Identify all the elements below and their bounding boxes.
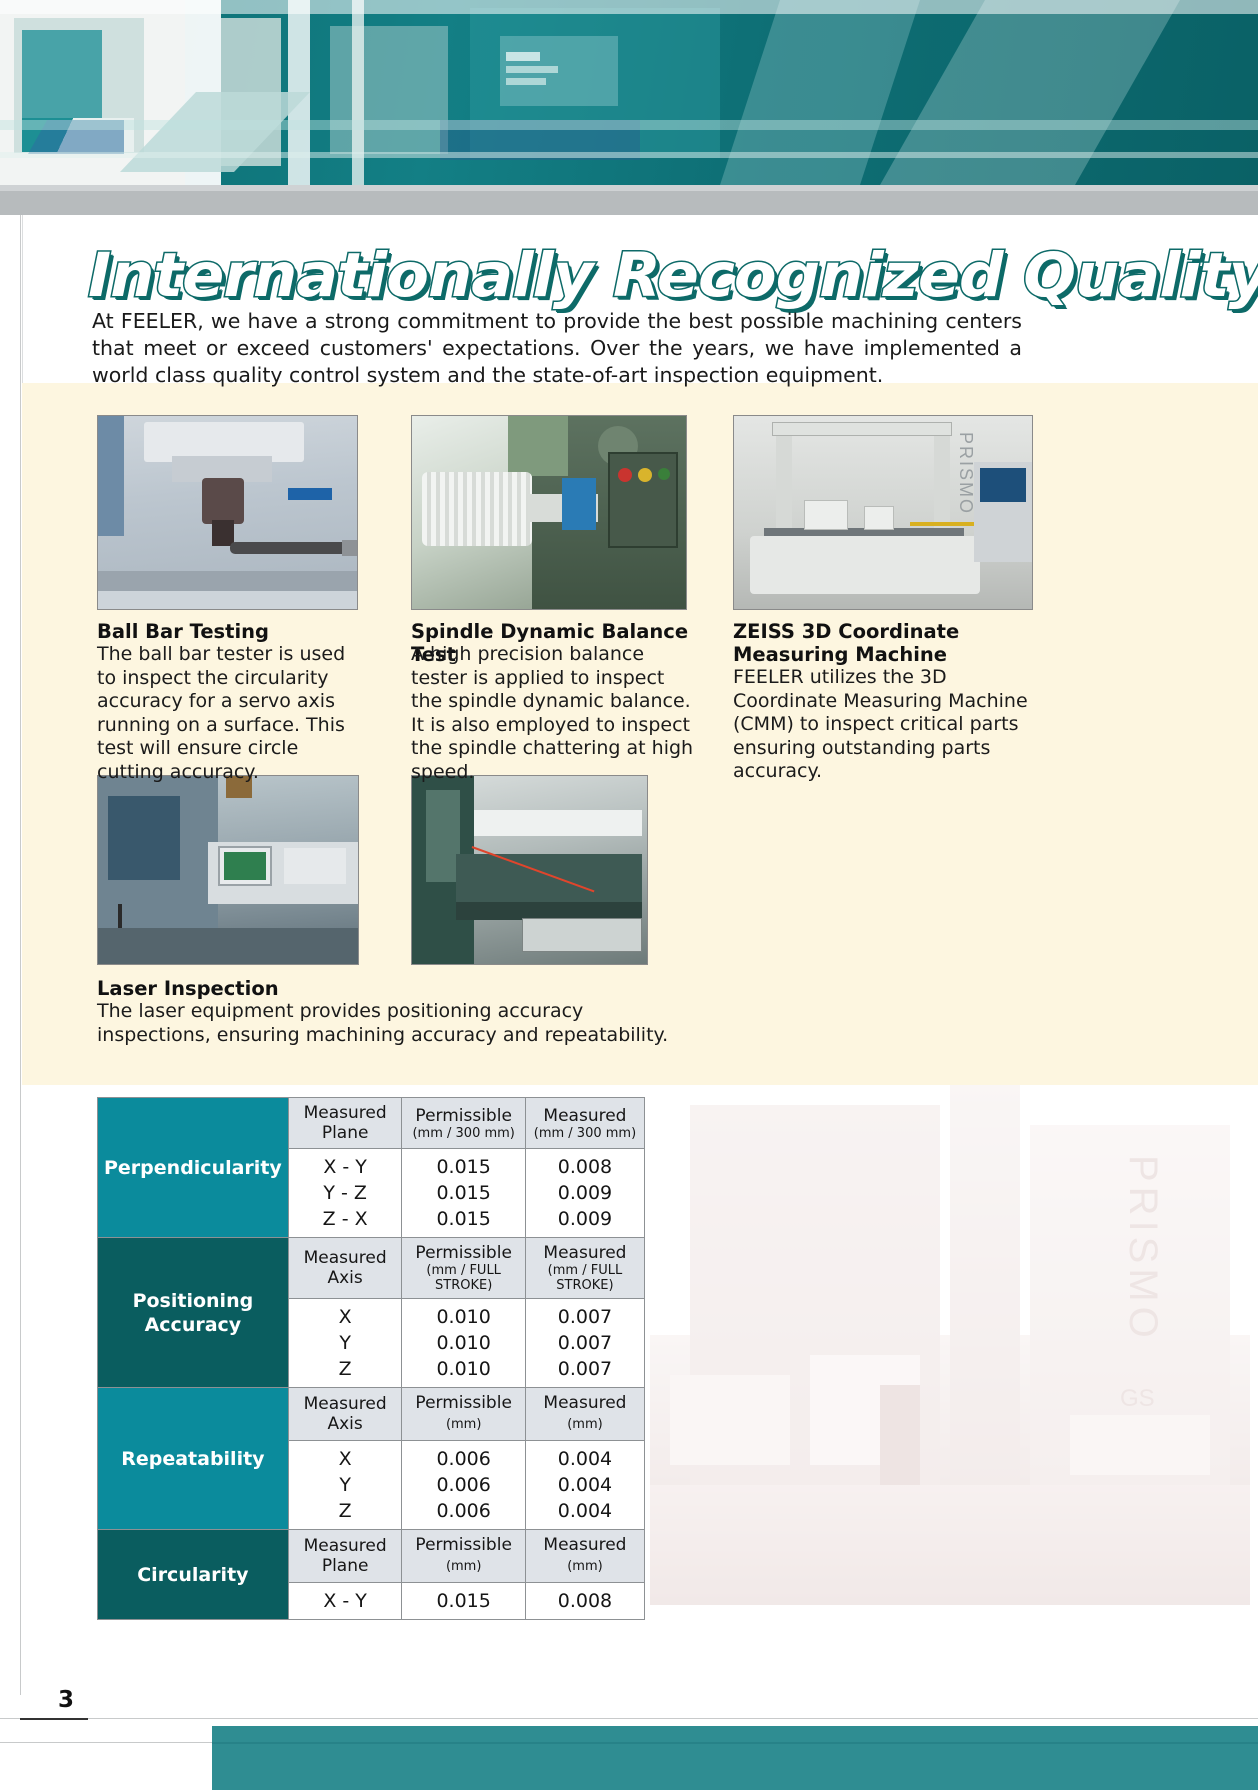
zeiss-cmm-photo: PRISMO [733, 415, 1033, 610]
table-row: Circularity Measured Plane Permissible (… [98, 1530, 645, 1583]
permissible-unit-1: (mm / FULL STROKE) [406, 1263, 520, 1293]
cell-value: 0.009 [530, 1180, 640, 1206]
permissible-label-1: Permissible [415, 1243, 512, 1263]
laser-inspection-photo [97, 775, 359, 965]
spec-measured-values-1: 0.007 0.007 0.007 [525, 1299, 644, 1388]
spec-permissible-values-3: 0.015 [402, 1583, 525, 1620]
cell-value: Y - Z [293, 1180, 398, 1206]
feature-body-2: FEELER utilizes the 3D Coordinate Measur… [733, 666, 1033, 784]
spec-category-1: Positioning Accuracy [98, 1238, 289, 1388]
spec-measured-values-2: 0.004 0.004 0.004 [525, 1441, 644, 1530]
spec-permissible-values-0: 0.015 0.015 0.015 [402, 1149, 525, 1238]
cell-value: 0.004 [530, 1472, 640, 1498]
feature-body-1: A high precision balance tester is appli… [411, 643, 699, 784]
cell-value: Y [293, 1472, 398, 1498]
banner-highlight-1 [0, 120, 1258, 130]
cmm-brand-label: PRISMO [955, 432, 976, 515]
feature-title-0: Ball Bar Testing [97, 620, 372, 643]
cell-value: X [293, 1304, 398, 1330]
feature-title-3: Laser Inspection [97, 977, 497, 1000]
cell-value: 0.004 [530, 1446, 640, 1472]
spec-axis-values-3: X - Y [288, 1583, 402, 1620]
spec-measured-header-1: Measured (mm / FULL STROKE) [525, 1238, 644, 1299]
banner-column-4 [330, 26, 448, 154]
measured-label-2: Measured [543, 1393, 626, 1413]
spec-measured-header-0: Measured (mm / 300 mm) [525, 1098, 644, 1149]
ball-bar-testing-photo [97, 415, 358, 610]
cell-value: 0.006 [406, 1472, 520, 1498]
cell-value: 0.006 [406, 1498, 520, 1524]
spec-permissible-header-0: Permissible (mm / 300 mm) [402, 1098, 525, 1149]
cell-value: 0.015 [406, 1588, 520, 1614]
spec-table-wrap: Perpendicularity Measured Plane Permissi… [97, 1097, 645, 1620]
measured-unit-3: (mm) [567, 1559, 602, 1574]
cell-value: 0.007 [530, 1304, 640, 1330]
permissible-label-2: Permissible [415, 1393, 512, 1413]
spec-permissible-header-3: Permissible (mm) [402, 1530, 525, 1583]
page-title: Internationally Recognized Quality [88, 240, 1169, 311]
cell-value: 0.010 [406, 1304, 520, 1330]
permissible-unit-3: (mm) [446, 1559, 481, 1574]
accuracy-spec-table: Perpendicularity Measured Plane Permissi… [97, 1097, 645, 1620]
cell-value: Z - X [293, 1206, 398, 1232]
banner-window-line-1 [506, 52, 540, 61]
feature-body-0: The ball bar tester is used to inspect t… [97, 643, 367, 784]
permissible-label-3: Permissible [415, 1535, 512, 1555]
banner-top-band [0, 0, 1258, 14]
table-row: Perpendicularity Measured Plane Permissi… [98, 1098, 645, 1149]
banner-window-line-2 [506, 66, 558, 73]
cell-value: 0.010 [406, 1330, 520, 1356]
cell-value: 0.007 [530, 1330, 640, 1356]
banner-machine-inner [22, 30, 102, 118]
cell-value: Z [293, 1356, 398, 1382]
watermark-mark-label: GS [1120, 1385, 1155, 1413]
spec-axis-values-1: X Y Z [288, 1299, 402, 1388]
footer-bar-line [212, 1742, 1258, 1744]
spec-measured-values-0: 0.008 0.009 0.009 [525, 1149, 644, 1238]
spec-measured-values-3: 0.008 [525, 1583, 644, 1620]
permissible-unit-2: (mm) [446, 1417, 481, 1432]
background-cmm-watermark: PRISMO GS [650, 1085, 1258, 1675]
footer-bar [212, 1726, 1258, 1790]
cell-value: 0.015 [406, 1154, 520, 1180]
header-banner-graphic [0, 0, 1258, 185]
cell-value: X [293, 1446, 398, 1472]
page-number-rule [20, 1718, 88, 1720]
cell-value: 0.008 [530, 1154, 640, 1180]
cell-value: 0.007 [530, 1356, 640, 1382]
measured-label-3: Measured [543, 1535, 626, 1555]
measured-label-1: Measured [543, 1243, 626, 1263]
spec-axis-header-2: Measured Axis [288, 1388, 402, 1441]
spec-measured-header-2: Measured (mm) [525, 1388, 644, 1441]
table-row: Repeatability Measured Axis Permissible … [98, 1388, 645, 1441]
left-margin-rule [20, 215, 21, 1695]
cell-value: X - Y [293, 1154, 398, 1180]
spec-measured-header-3: Measured (mm) [525, 1530, 644, 1583]
cell-value: 0.010 [406, 1356, 520, 1382]
spec-category-2: Repeatability [98, 1388, 289, 1530]
measured-unit-1: (mm / FULL STROKE) [530, 1263, 640, 1293]
cell-value: Z [293, 1498, 398, 1524]
spec-axis-header-0: Measured Plane [288, 1098, 402, 1149]
spec-axis-values-0: X - Y Y - Z Z - X [288, 1149, 402, 1238]
page-number: 3 [58, 1687, 74, 1713]
cell-value: 0.008 [530, 1588, 640, 1614]
spec-axis-header-1: Measured Axis [288, 1238, 402, 1299]
cell-value: 0.015 [406, 1180, 520, 1206]
cell-value: 0.009 [530, 1206, 640, 1232]
spec-permissible-values-2: 0.006 0.006 0.006 [402, 1441, 525, 1530]
banner-window-line-3 [506, 78, 546, 85]
intro-paragraph: At FEELER, we have a strong commitment t… [92, 308, 1022, 389]
permissible-unit-0: (mm / 300 mm) [406, 1126, 520, 1141]
spec-permissible-values-1: 0.010 0.010 0.010 [402, 1299, 525, 1388]
cell-value: 0.015 [406, 1206, 520, 1232]
cell-value: X - Y [293, 1588, 398, 1614]
spec-category-3: Circularity [98, 1530, 289, 1620]
feature-body-3: The laser equipment provides positioning… [97, 1000, 697, 1047]
feature-title-2: ZEISS 3D Coordinate Measuring Machine [733, 620, 1043, 666]
laser-table-photo [411, 775, 648, 965]
spindle-dynamic-balance-photo [411, 415, 687, 610]
measured-unit-2: (mm) [567, 1417, 602, 1432]
permissible-label-0: Permissible [415, 1106, 512, 1126]
cell-value: Y [293, 1330, 398, 1356]
spec-category-0: Perpendicularity [98, 1098, 289, 1238]
cell-value: 0.004 [530, 1498, 640, 1524]
cell-value: 0.006 [406, 1446, 520, 1472]
footer-rule-top [0, 1718, 1258, 1719]
table-row: Positioning Accuracy Measured Axis Permi… [98, 1238, 645, 1299]
measured-unit-0: (mm / 300 mm) [530, 1126, 640, 1141]
spec-axis-header-3: Measured Plane [288, 1530, 402, 1583]
watermark-brand-label: PRISMO [1120, 1155, 1165, 1343]
banner-highlight-2 [0, 152, 1258, 158]
spec-permissible-header-1: Permissible (mm / FULL STROKE) [402, 1238, 525, 1299]
spec-permissible-header-2: Permissible (mm) [402, 1388, 525, 1441]
spec-axis-values-2: X Y Z [288, 1441, 402, 1530]
page-title-wrap: Internationally Recognized Quality [88, 240, 1148, 312]
banner-grey-strip-light [0, 185, 1258, 191]
measured-label-0: Measured [543, 1106, 626, 1126]
